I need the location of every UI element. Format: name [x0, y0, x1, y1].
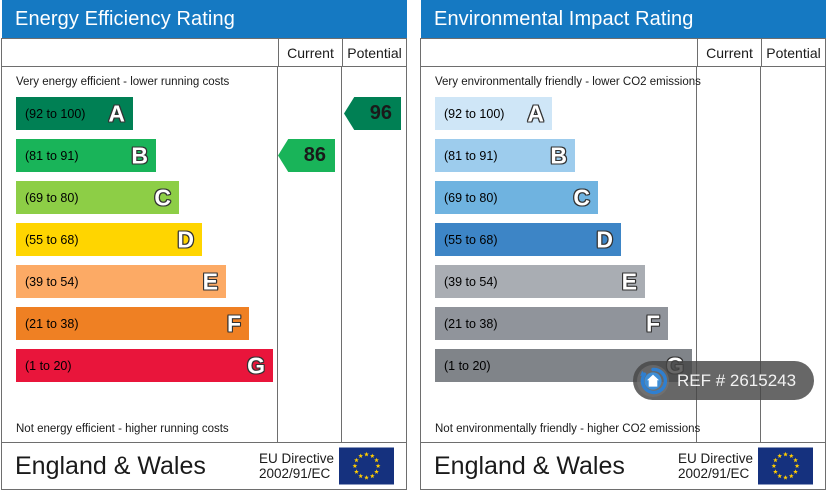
- column-header-current: Current: [278, 39, 342, 66]
- caption-bottom: Not environmentally friendly - higher CO…: [435, 423, 700, 435]
- column-header-spacer: [421, 39, 697, 66]
- band-range: (92 to 100): [444, 107, 504, 121]
- band-range: (69 to 80): [25, 191, 79, 205]
- rating-band-g: (1 to 20)G: [16, 349, 273, 382]
- band-range: (21 to 38): [25, 317, 79, 331]
- chart-footer: England & WalesEU Directive2002/91/EC: [420, 443, 826, 490]
- band-letter: A: [108, 102, 125, 125]
- reference-watermark: REF # 2615243: [633, 361, 814, 400]
- band-letter: F: [227, 312, 241, 335]
- band-range: (81 to 91): [25, 149, 79, 163]
- rating-band-c: (69 to 80)C: [435, 181, 598, 214]
- potential-rating-value: 96: [370, 102, 392, 125]
- band-range: (69 to 80): [444, 191, 498, 205]
- eu-directive-line2: 2002/91/EC: [678, 466, 753, 481]
- chart-footer: England & WalesEU Directive2002/91/EC: [1, 443, 407, 490]
- band-letter: E: [622, 270, 637, 293]
- rating-band-b: (81 to 91)B: [435, 139, 575, 172]
- band-letter: F: [646, 312, 660, 335]
- panel-divider: [407, 0, 420, 491]
- rating-band-b: (81 to 91)B: [16, 139, 156, 172]
- chart-title: Environmental Impact Rating: [434, 8, 694, 31]
- current-rating-arrow: 86: [278, 139, 335, 172]
- footer-region-label: England & Wales: [434, 452, 625, 481]
- column-header-potential: Potential: [342, 39, 406, 66]
- caption-top: Very energy efficient - lower running co…: [16, 76, 229, 88]
- band-letter: D: [596, 228, 613, 251]
- rating-band-c: (69 to 80)C: [16, 181, 179, 214]
- band-range: (1 to 20): [444, 359, 491, 373]
- energy-efficiency-panel: Energy Efficiency RatingCurrentPotential…: [1, 0, 407, 491]
- chart-body: Very energy efficient - lower running co…: [2, 67, 406, 443]
- rating-bars: (92 to 100)A(81 to 91)B(69 to 80)C(55 to…: [435, 97, 692, 391]
- rating-band-d: (55 to 68)D: [435, 223, 621, 256]
- eu-flag-icon: [758, 448, 813, 485]
- band-letter: C: [573, 186, 590, 209]
- chart-title: Energy Efficiency Rating: [15, 8, 235, 31]
- band-range: (39 to 54): [25, 275, 79, 289]
- column-header-potential: Potential: [761, 39, 825, 66]
- eu-directive-line1: EU Directive: [259, 451, 334, 466]
- eu-flag-icon: [339, 448, 394, 485]
- band-range: (55 to 68): [25, 233, 79, 247]
- chart-grid: CurrentPotentialVery energy efficient - …: [1, 38, 407, 443]
- rating-band-a: (92 to 100)A: [16, 97, 133, 130]
- epc-certificate-page: Energy Efficiency RatingCurrentPotential…: [0, 0, 827, 493]
- rating-band-f: (21 to 38)F: [16, 307, 249, 340]
- column-header-spacer: [2, 39, 278, 66]
- eu-directive-line1: EU Directive: [678, 451, 753, 466]
- rating-band-d: (55 to 68)D: [16, 223, 202, 256]
- environmental-impact-panel: Environmental Impact RatingCurrentPotent…: [420, 0, 826, 491]
- band-range: (81 to 91): [444, 149, 498, 163]
- band-letter: A: [527, 102, 544, 125]
- eu-directive-label: EU Directive2002/91/EC: [678, 451, 753, 481]
- column-header-current: Current: [697, 39, 761, 66]
- chart-header-energy: Energy Efficiency Rating: [1, 0, 407, 38]
- band-letter: E: [203, 270, 218, 293]
- band-range: (55 to 68): [444, 233, 498, 247]
- house-refresh-icon: [637, 365, 669, 397]
- rating-band-e: (39 to 54)E: [16, 265, 226, 298]
- current-rating-value: 86: [304, 144, 326, 167]
- watermark-text: REF # 2615243: [677, 371, 796, 391]
- rating-band-e: (39 to 54)E: [435, 265, 645, 298]
- current-column-divider: [277, 67, 278, 443]
- rating-band-a: (92 to 100)A: [435, 97, 552, 130]
- eu-directive-line2: 2002/91/EC: [259, 466, 334, 481]
- chart-header-environmental: Environmental Impact Rating: [420, 0, 826, 38]
- band-letter: C: [154, 186, 171, 209]
- rating-bars: (92 to 100)A(81 to 91)B(69 to 80)C(55 to…: [16, 97, 273, 391]
- band-letter: B: [550, 144, 567, 167]
- caption-bottom: Not energy efficient - higher running co…: [16, 423, 229, 435]
- footer-region-label: England & Wales: [15, 452, 206, 481]
- band-letter: D: [177, 228, 194, 251]
- potential-column-divider: [341, 67, 342, 443]
- rating-band-f: (21 to 38)F: [435, 307, 668, 340]
- band-range: (92 to 100): [25, 107, 85, 121]
- band-range: (1 to 20): [25, 359, 72, 373]
- band-letter: G: [247, 354, 265, 377]
- caption-top: Very environmentally friendly - lower CO…: [435, 76, 701, 88]
- band-range: (21 to 38): [444, 317, 498, 331]
- band-letter: B: [131, 144, 148, 167]
- band-range: (39 to 54): [444, 275, 498, 289]
- column-header-row: CurrentPotential: [2, 39, 406, 67]
- eu-directive-label: EU Directive2002/91/EC: [259, 451, 334, 481]
- column-header-row: CurrentPotential: [421, 39, 825, 67]
- potential-rating-arrow: 96: [344, 97, 401, 130]
